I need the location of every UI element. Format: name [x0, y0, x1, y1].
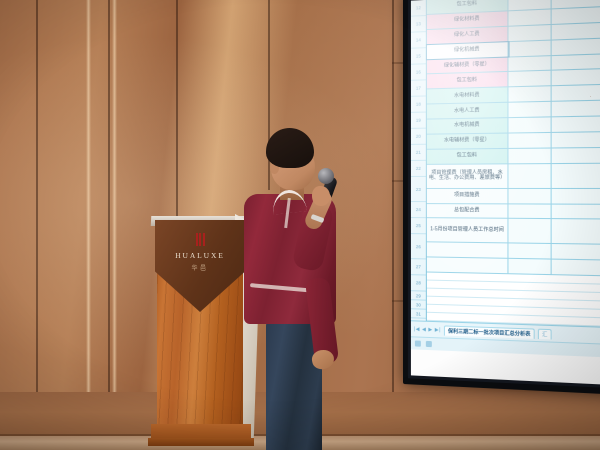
row-label-cell[interactable]: 项目措施费: [427, 189, 509, 203]
value-cell[interactable]: [508, 189, 551, 203]
row-number[interactable]: 21: [411, 145, 426, 161]
presentation-scene: 1213141516171819202122232425262728293031…: [0, 0, 600, 450]
last-sheet-icon[interactable]: ▶|: [435, 327, 441, 333]
value-cell[interactable]: [508, 164, 551, 188]
value-cell[interactable]: [508, 9, 551, 25]
row-label-cell[interactable]: 水电辅材费（零星）: [427, 134, 509, 149]
row-number[interactable]: 30: [411, 300, 426, 309]
value-cell[interactable]: [552, 132, 600, 147]
value-cell[interactable]: [552, 244, 600, 259]
value-cell[interactable]: [552, 85, 600, 101]
row-number[interactable]: 29: [411, 291, 426, 300]
sheet-tab-active[interactable]: 保利三期二标一批次项目汇总分析表: [444, 325, 535, 338]
value-cell[interactable]: [508, 102, 551, 117]
next-sheet-icon[interactable]: ▶: [428, 326, 432, 332]
value-cell[interactable]: [552, 204, 600, 219]
value-cell[interactable]: [508, 259, 551, 274]
value-cell[interactable]: [552, 101, 600, 117]
grid-icon[interactable]: [426, 341, 432, 347]
value-cell[interactable]: [552, 7, 600, 24]
row-number[interactable]: 24: [411, 202, 426, 218]
value-cell[interactable]: [552, 54, 600, 70]
row-label-cell[interactable]: [427, 243, 509, 258]
row-number[interactable]: 25: [411, 218, 426, 234]
row-label-cell[interactable]: 绿化辅材费（零星）: [427, 57, 509, 74]
row-number[interactable]: 20: [411, 129, 426, 145]
value-cell[interactable]: [552, 189, 600, 204]
presenter: [238, 128, 356, 450]
value-cell[interactable]: [552, 220, 600, 244]
sheet-tab-next[interactable]: 汇: [538, 328, 552, 339]
value-cell[interactable]: [508, 219, 551, 243]
presenter-hair: [266, 128, 314, 168]
value-cell[interactable]: [508, 244, 551, 259]
value-cell[interactable]: [508, 148, 551, 163]
row-number[interactable]: 27: [411, 259, 426, 275]
wall-panel-seam: [108, 0, 110, 450]
row-number[interactable]: 18: [411, 96, 426, 112]
brand-name-en: HUALUXE: [175, 251, 225, 260]
table-row[interactable]: 项目措施费: [427, 189, 600, 205]
row-label-cell[interactable]: 总包配合费: [427, 204, 509, 219]
row-number[interactable]: 14: [411, 32, 426, 49]
brand-name-cn: 华邑: [191, 263, 208, 272]
table-row[interactable]: 总包配合费: [427, 204, 600, 220]
row-label-cell[interactable]: 1-5月份项目管理人员工作总时间: [427, 219, 509, 243]
value-cell[interactable]: [552, 117, 600, 132]
spreadsheet-grid: 1213141516171819202122232425262728293031…: [411, 0, 600, 327]
page-layout-icon[interactable]: [415, 340, 421, 346]
microphone-head-icon: [318, 168, 334, 184]
row-number[interactable]: 28: [411, 275, 426, 291]
row-number[interactable]: 19: [411, 113, 426, 129]
row-label-cell[interactable]: 水电材料费: [427, 88, 509, 104]
prev-sheet-icon[interactable]: ◀: [422, 326, 426, 332]
presenter-right-hand: [312, 186, 330, 206]
row-number[interactable]: 22: [411, 161, 426, 177]
value-cell[interactable]: [552, 148, 600, 163]
value-cell[interactable]: [508, 40, 551, 56]
table-row[interactable]: 1-5月份项目管理人员工作总时间: [427, 219, 600, 245]
spreadsheet-app: 1213141516171819202122232425262728293031…: [411, 0, 600, 385]
spreadsheet-rows[interactable]: 包工包料绿化材料费绿化人工费绿化机械费绿化辅材费（零星）包工包料水电材料费水电人…: [427, 0, 600, 327]
projection-screen: 1213141516171819202122232425262728293031…: [403, 0, 600, 395]
row-number[interactable]: 26: [411, 234, 426, 259]
empty-rows[interactable]: [427, 272, 600, 326]
value-cell[interactable]: [508, 56, 551, 72]
row-label-cell[interactable]: 包工包料: [427, 72, 509, 88]
row-label-cell[interactable]: 水电人工费: [427, 103, 509, 119]
value-cell[interactable]: [552, 38, 600, 55]
value-cell[interactable]: [508, 204, 551, 219]
first-sheet-icon[interactable]: |◀: [414, 326, 420, 332]
wall-panel-highlight: [86, 0, 91, 450]
row-number[interactable]: 13: [411, 16, 426, 33]
row-number[interactable]: 15: [411, 48, 426, 65]
row-number[interactable]: 12: [411, 0, 426, 17]
row-label-cell[interactable]: 包工包料: [427, 149, 509, 164]
hualuxe-logo-icon: [196, 233, 205, 246]
screen-display: 1213141516171819202122232425262728293031…: [411, 0, 600, 385]
row-number[interactable]: 17: [411, 80, 426, 96]
row-number[interactable]: 31: [411, 309, 426, 319]
row-label-cell[interactable]: 绿化人工费: [427, 27, 509, 44]
row-label-cell[interactable]: [427, 258, 509, 274]
screen-bezel: 1213141516171819202122232425262728293031…: [408, 0, 600, 388]
table-row[interactable]: 水电辅材费（零星）: [427, 132, 600, 149]
row-header-column[interactable]: 1213141516171819202122232425262728293031…: [411, 0, 427, 321]
value-cell[interactable]: [508, 118, 551, 133]
value-cell[interactable]: [552, 69, 600, 85]
row-number[interactable]: 16: [411, 64, 426, 81]
wall-panel-seam: [36, 0, 38, 450]
value-cell[interactable]: [552, 22, 600, 39]
value-cell[interactable]: [508, 87, 551, 102]
sheet-nav-buttons[interactable]: |◀ ◀ ▶ ▶|: [414, 326, 441, 333]
value-cell[interactable]: [508, 133, 551, 148]
wall-panel-highlight: [112, 0, 117, 450]
value-cell[interactable]: [508, 71, 551, 87]
row-number[interactable]: 23: [411, 177, 426, 202]
value-cell[interactable]: [552, 164, 600, 188]
row-label-cell[interactable]: 水电机械费: [427, 118, 509, 133]
wall-panel-seam: [392, 0, 394, 450]
value-cell[interactable]: [552, 260, 600, 276]
row-label-cell[interactable]: 项目管理费（管理人员房租、水电、生活、办公费用、差旅费等）: [427, 164, 509, 187]
value-cell[interactable]: [508, 25, 551, 41]
table-row[interactable]: 项目管理费（管理人员房租、水电、生活、办公费用、差旅费等）: [427, 164, 600, 189]
row-label-cell[interactable]: 绿化机械费: [427, 42, 509, 59]
table-row[interactable]: 包工包料: [427, 148, 600, 165]
